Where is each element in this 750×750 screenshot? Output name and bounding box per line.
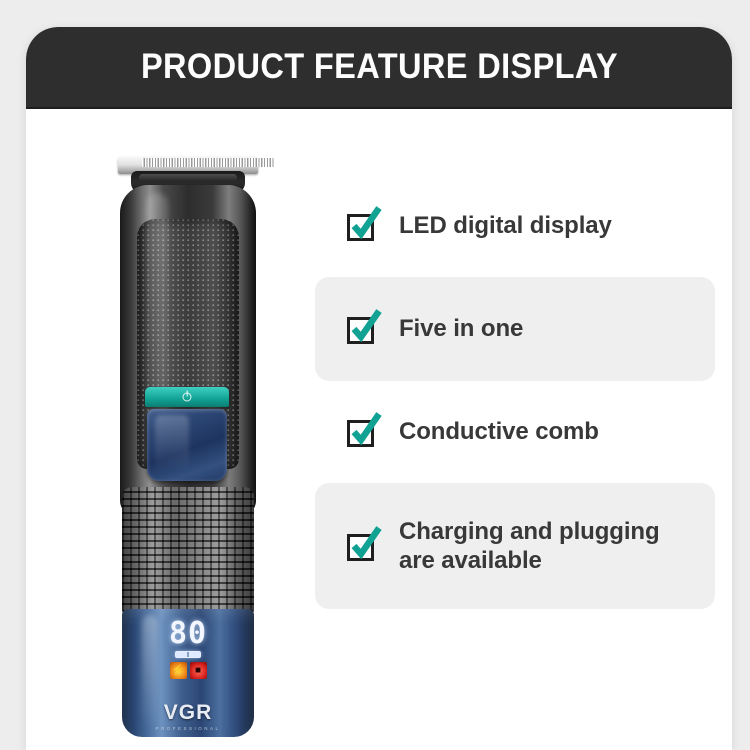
- power-glyph: [183, 393, 192, 402]
- checkbox-checked-icon[interactable]: [347, 211, 377, 241]
- brand-logo: VGR PROFESSIONAL: [122, 701, 254, 731]
- checkbox-checked-icon[interactable]: [347, 531, 377, 561]
- feature-label: Charging and plugging are available: [399, 517, 660, 576]
- led-indicator-group: ⚡ ■: [162, 662, 214, 679]
- led-value: 80: [162, 619, 214, 649]
- power-button-icon: [145, 387, 229, 407]
- feature-label: LED digital display: [399, 211, 612, 240]
- feature-row[interactable]: Five in one: [315, 277, 715, 381]
- product-image-hair-trimmer: 80 ⚡ ■ VGR PROFESSIONAL: [98, 157, 278, 737]
- checkmark-glyph: [346, 309, 384, 349]
- product-feature-card: PRODUCT FEATURE DISPLAY 80: [26, 27, 732, 750]
- brand-subtitle: PROFESSIONAL: [122, 726, 254, 731]
- battery-indicator-icon: ■: [190, 662, 207, 679]
- led-digital-display: 80 ⚡ ■: [162, 619, 214, 679]
- waffle-grip-texture: [122, 487, 254, 619]
- feature-label: Conductive comb: [399, 417, 599, 446]
- feature-list: LED digital display Five in one: [315, 189, 715, 623]
- blade-teeth: [142, 158, 274, 167]
- checkmark-glyph: [346, 412, 384, 452]
- trimmer-base: 80 ⚡ ■ VGR PROFESSIONAL: [122, 609, 254, 737]
- brand-name: VGR: [122, 701, 254, 725]
- feature-label: Five in one: [399, 314, 523, 343]
- feature-row[interactable]: Charging and plugging are available: [315, 483, 715, 609]
- checkmark-glyph: [346, 206, 384, 246]
- card-body: 80 ⚡ ■ VGR PROFESSIONAL: [26, 109, 732, 750]
- header-banner: PRODUCT FEATURE DISPLAY: [26, 27, 732, 109]
- checkbox-checked-icon[interactable]: [347, 417, 377, 447]
- feature-row[interactable]: Conductive comb: [315, 395, 715, 469]
- checkbox-checked-icon[interactable]: [347, 314, 377, 344]
- level-bar-icon: [175, 651, 201, 658]
- plug-indicator-icon: ⚡: [170, 662, 187, 679]
- switch-panel: [147, 409, 227, 481]
- feature-row[interactable]: LED digital display: [315, 189, 715, 263]
- page-title: PRODUCT FEATURE DISPLAY: [141, 47, 618, 87]
- checkmark-glyph: [346, 526, 384, 566]
